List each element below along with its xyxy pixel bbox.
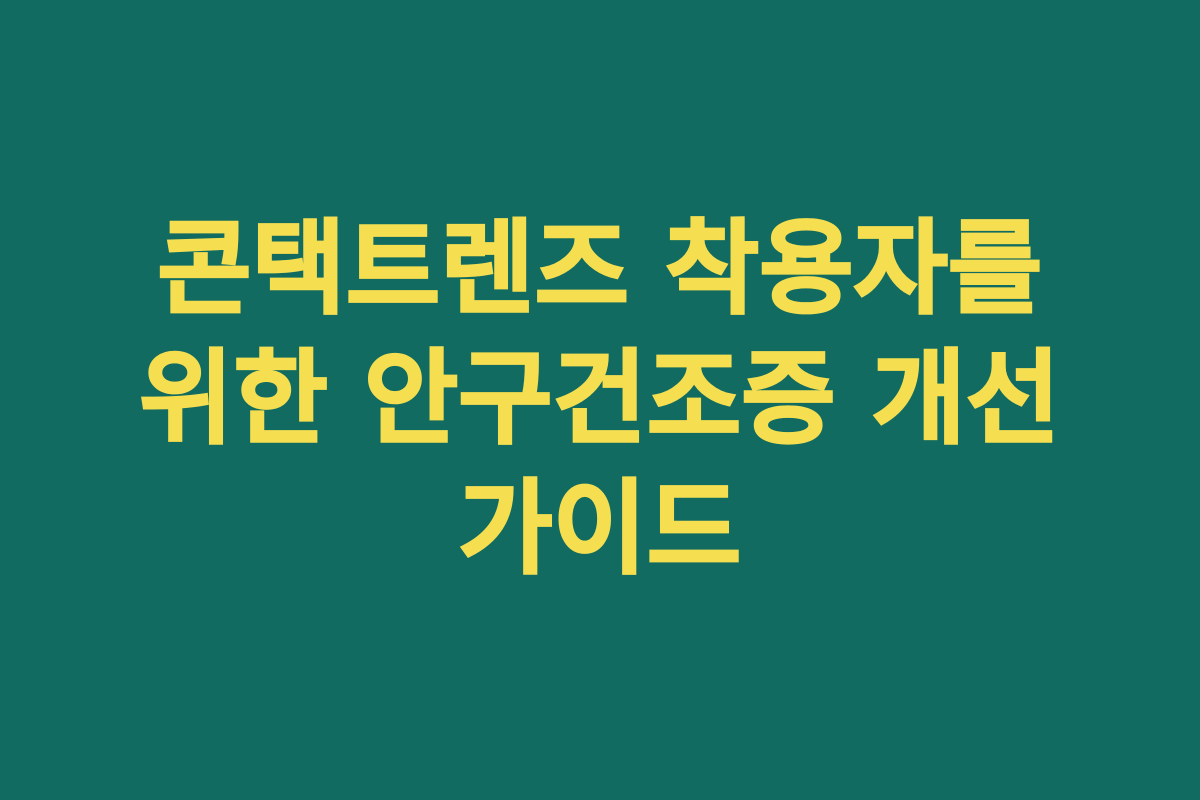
page-title: 콘택트렌즈 착용자를 위한 안구건조증 개선 가이드	[89, 205, 1111, 595]
title-banner: 콘택트렌즈 착용자를 위한 안구건조증 개선 가이드	[0, 0, 1200, 800]
title-block: 콘택트렌즈 착용자를 위한 안구건조증 개선 가이드	[85, 205, 1115, 595]
